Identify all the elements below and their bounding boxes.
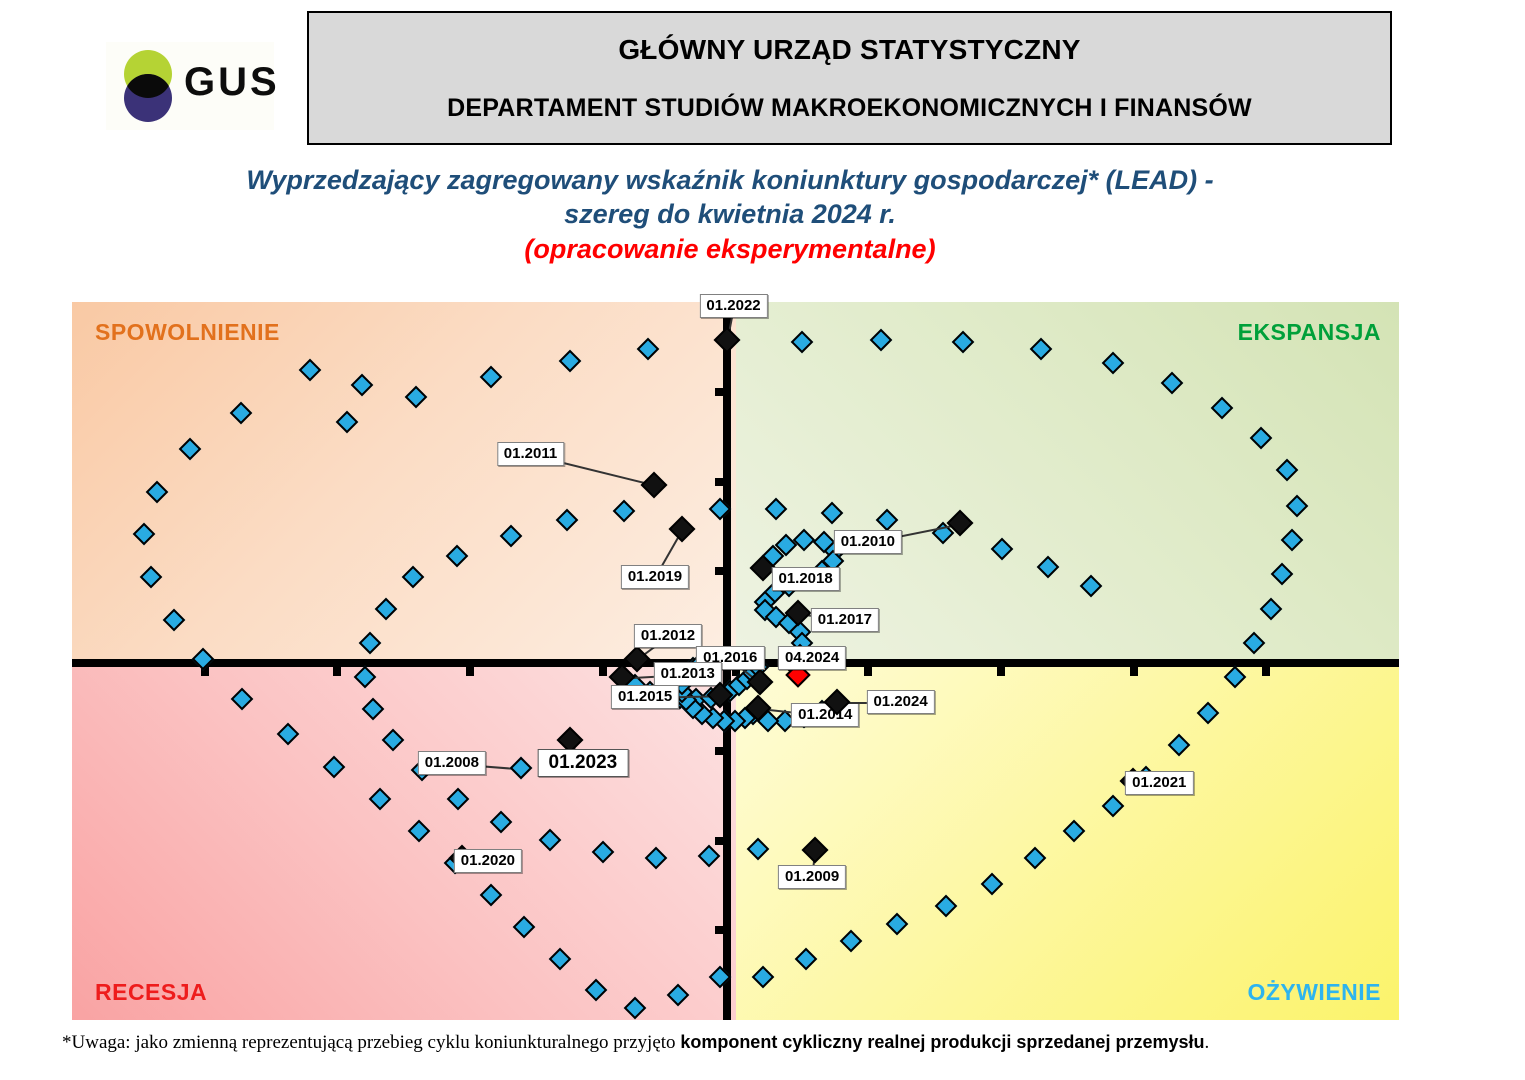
x-axis-tick — [599, 667, 607, 676]
data-point-label[interactable]: 01.2010 — [834, 530, 902, 554]
data-point-label[interactable]: 01.2023 — [538, 749, 629, 777]
footnote-tail: . — [1204, 1032, 1209, 1053]
data-point-label[interactable]: 01.2017 — [811, 608, 879, 632]
data-point-label[interactable]: 01.2013 — [654, 662, 722, 686]
data-point-label[interactable]: 01.2014 — [791, 703, 859, 727]
gus-logo: GUS — [106, 42, 274, 130]
footnote: *Uwaga: jako zmienną reprezentującą prze… — [62, 1032, 1482, 1054]
quadrant-expansion — [736, 302, 1400, 661]
quadrant-label-slowdown: SPOWOLNIENIE — [95, 319, 280, 346]
data-point-label[interactable]: 01.2024 — [866, 690, 934, 714]
page-header: GUS GŁÓWNY URZĄD STATYSTYCZNY DEPARTAMEN… — [0, 0, 1525, 155]
department-name: DEPARTAMENT STUDIÓW MAKROEKONOMICZNYCH I… — [447, 94, 1252, 123]
data-point-label[interactable]: 01.2018 — [771, 567, 839, 591]
gus-two-circle-logo — [114, 50, 182, 122]
chart-title-line3: (opracowanie eksperymentalne) — [0, 231, 1460, 267]
institution-title-box: GŁÓWNY URZĄD STATYSTYCZNY DEPARTAMENT ST… — [307, 11, 1392, 145]
data-point-label[interactable]: 01.2008 — [418, 751, 486, 775]
data-point-label[interactable]: 01.2012 — [634, 624, 702, 648]
data-point-label[interactable]: 01.2019 — [621, 565, 689, 589]
x-axis-tick — [997, 667, 1005, 676]
data-point-label[interactable]: 01.2009 — [778, 865, 846, 889]
lead-phase-diagram: SPOWOLNIENIE EKSPANSJA RECESJA OŻYWIENIE… — [72, 302, 1399, 1020]
institution-name: GŁÓWNY URZĄD STATYSTYCZNY — [618, 34, 1080, 66]
data-point-label[interactable]: 01.2022 — [699, 294, 767, 318]
data-point-label[interactable]: 01.2015 — [611, 685, 679, 709]
gus-logo-text: GUS — [184, 60, 280, 105]
quadrant-label-expansion: EKSPANSJA — [1238, 319, 1381, 346]
data-point-label[interactable]: 04.2024 — [778, 646, 846, 670]
x-axis-tick — [864, 667, 872, 676]
quadrant-recession — [72, 661, 736, 1020]
data-point-label[interactable]: 01.2011 — [497, 442, 564, 466]
chart-title: Wyprzedzający zagregowany wskaźnik koniu… — [0, 163, 1460, 267]
x-axis-tick — [1130, 667, 1138, 676]
x-axis-tick — [1262, 667, 1270, 676]
x-axis-tick — [333, 667, 341, 676]
footnote-text: *Uwaga: jako zmienną reprezentującą prze… — [62, 1032, 680, 1053]
x-axis-tick — [466, 667, 474, 676]
chart-title-line1: Wyprzedzający zagregowany wskaźnik koniu… — [0, 163, 1460, 197]
quadrant-label-recession: RECESJA — [95, 979, 207, 1006]
quadrant-label-revival: OŻYWIENIE — [1247, 979, 1381, 1006]
footnote-bold: komponent cykliczny realnej produkcji sp… — [680, 1032, 1204, 1052]
chart-title-line2: szereg do kwietnia 2024 r. — [0, 197, 1460, 231]
data-point-label[interactable]: 01.2020 — [454, 849, 522, 873]
data-point-label[interactable]: 01.2021 — [1125, 771, 1193, 795]
